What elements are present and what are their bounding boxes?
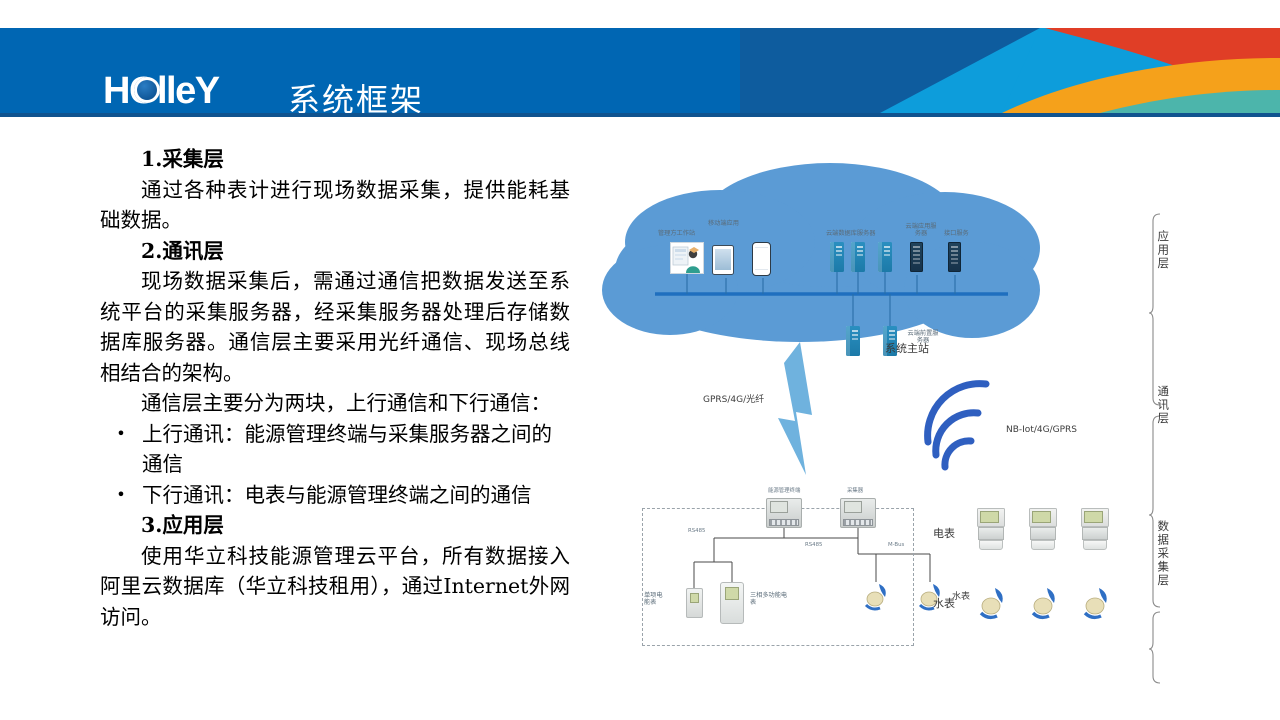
bullet-text: 上行通讯：能源管理终端与采集服务器之间的通信 (142, 419, 570, 480)
bullet-dot-icon: • (100, 419, 142, 450)
water-meter-icon-1 (976, 582, 1012, 620)
bullet-item-uplink: • 上行通讯：能源管理终端与采集服务器之间的通信 (100, 419, 570, 480)
cloud-db-server-icon-1 (830, 242, 844, 272)
water-meter-icon-3 (1080, 582, 1116, 620)
wifi-signal-icon (928, 384, 986, 467)
body-text: 1.采集层 通过各种表计进行现场数据采集，提供能耗基础数据。 2.通讯层 现场数… (100, 144, 570, 632)
electric-meter-icon-3 (1079, 508, 1111, 552)
section-heading-3: 3.应用层 (100, 510, 570, 541)
label-electric-meter-group: 电表 (933, 528, 955, 541)
label-water-meter-group: 水表 (933, 598, 955, 611)
slide-root: HOlleY TECH 华立科技 系统框架 1.采集层 通过各种表计进行现场数据… (0, 0, 1280, 720)
cloud-db-server-icon-3 (878, 242, 892, 272)
cloud-app-server-icon (910, 242, 923, 272)
bracket-label-application-layer: 应用层 (1156, 230, 1169, 271)
field-acquisition-box (642, 508, 914, 646)
section-heading-1: 1.采集层 (100, 144, 570, 175)
workstation-illustration (671, 243, 703, 273)
lightning-bolt-icon (778, 342, 812, 475)
electric-meter-icon-1 (975, 508, 1007, 552)
single-phase-meter-icon (686, 588, 703, 618)
section-para-1: 通过各种表计进行现场数据采集，提供能耗基础数据。 (100, 175, 570, 236)
label-interface-service: 接口服务 (944, 230, 969, 237)
section-para-3: 通信层主要分为两块，上行通信和下行通信： (100, 388, 570, 419)
bullet-text: 下行通讯：电表与能源管理终端之间的通信 (142, 480, 570, 511)
label-single-phase-meter: 单项电 能表 (644, 592, 684, 606)
label-system-master-station: 系统主站 (885, 343, 929, 356)
cloud-shape (602, 163, 1040, 342)
tablet-icon (712, 245, 734, 275)
smartphone-icon (752, 242, 771, 276)
energy-management-terminal-icon (766, 498, 802, 528)
label-data-collector: 采集器 (847, 488, 863, 494)
label-cloud-app-server: 云端应用服 务器 (900, 223, 942, 237)
water-meter-icon-2 (1028, 582, 1064, 620)
header-underline (0, 113, 1280, 117)
section-heading-2: 2.通讯层 (100, 236, 570, 267)
bullet-dot-icon: • (100, 480, 142, 511)
logo-wordmark: HOlleY (103, 72, 261, 110)
water-meter-icon-field-1 (862, 578, 894, 612)
interface-service-icon (948, 242, 961, 272)
cloud-db-server-icon-2 (851, 242, 865, 272)
bracket-label-communication-layer: 通讯层 (1156, 385, 1169, 426)
label-three-phase-meter: 三相多功能电 表 (750, 592, 802, 606)
label-energy-management-terminal: 能源管理终端 (768, 488, 800, 494)
label-cloud-db-servers: 云端数据库服务器 (826, 230, 876, 237)
layer-brackets-vector (1148, 208, 1178, 688)
header-swoosh-graphic (740, 28, 1280, 113)
bracket-label-acquisition-layer: 数据采集层 (1156, 520, 1169, 588)
label-mobile-app: 移动端应用 (708, 220, 739, 227)
section-para-4: 使用华立科技能源管理云平台，所有数据接入阿里云数据库（华立科技租用），通过Int… (100, 541, 570, 633)
three-phase-meter-icon (720, 582, 744, 624)
label-rs485-1: RS485 (688, 528, 705, 534)
cloud-front-server-icon-1 (846, 326, 860, 356)
bullet-item-downlink: • 下行通讯：电表与能源管理终端之间的通信 (100, 480, 570, 511)
label-wireless-media: NB-Iot/4G/GPRS (1006, 425, 1077, 435)
section-para-2: 现场数据采集后，需通过通信把数据发送至系统平台的采集服务器，经采集服务器处理后存… (100, 266, 570, 388)
electric-meter-icon-2 (1027, 508, 1059, 552)
header-bar: HOlleY TECH 华立科技 系统框架 (0, 28, 1280, 113)
holley-logo: HOlleY TECH 华立科技 (103, 72, 261, 113)
label-uplink-media: GPRS/4G/光纤 (703, 395, 764, 405)
data-collector-icon (840, 498, 876, 528)
workstation-icon (670, 242, 704, 274)
system-architecture-diagram: 管理方工作站 移动端应用 云端数据库服务器 云端应用服 务器 接口服务 云端前置… (600, 130, 1280, 690)
page-title: 系统框架 (288, 75, 424, 113)
label-workstation: 管理方工作站 (658, 230, 695, 237)
label-mbus: M-Bus (888, 542, 904, 548)
label-rs485-2: RS485 (805, 542, 822, 548)
